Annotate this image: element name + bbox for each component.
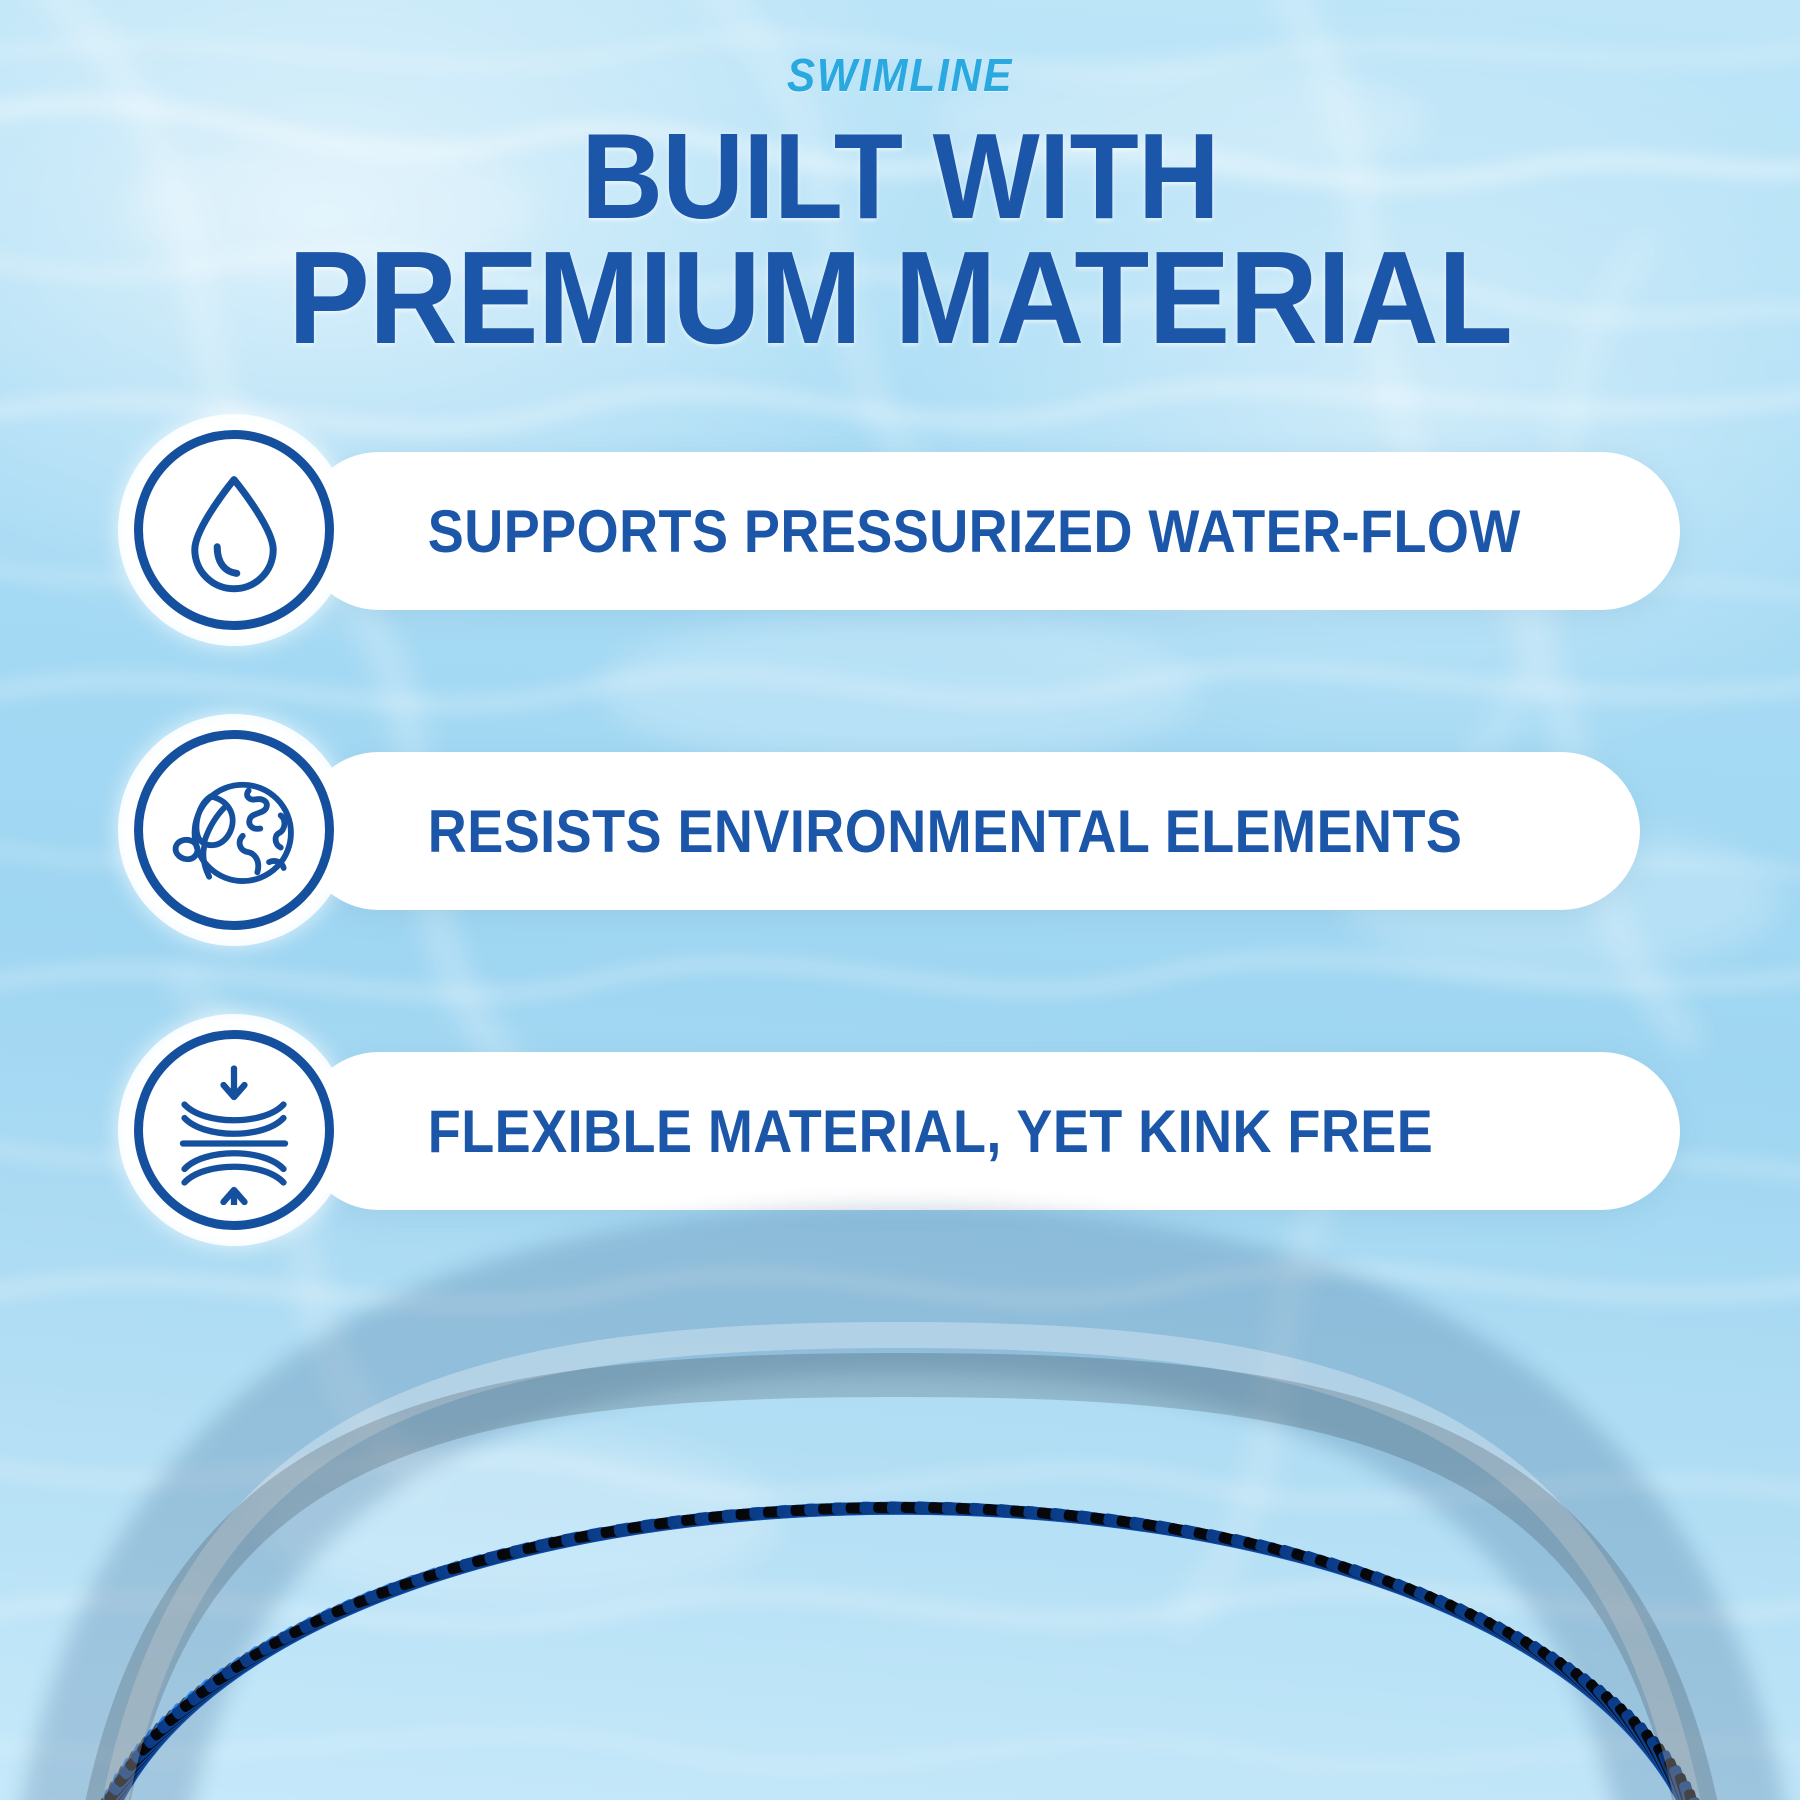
feature-label-2: RESISTS ENVIRONMENTAL ELEMENTS <box>300 797 1462 866</box>
list-item: SUPPORTS PRESSURIZED WATER-FLOW <box>0 400 1800 700</box>
feature-badge-2 <box>118 714 350 946</box>
feature-label-1: SUPPORTS PRESSURIZED WATER-FLOW <box>300 497 1521 566</box>
page-title: BUILT WITH PREMIUM MATERIAL <box>63 118 1737 362</box>
feature-pill-1: SUPPORTS PRESSURIZED WATER-FLOW <box>300 452 1680 610</box>
product-image-pool-hose <box>0 1120 1800 1800</box>
globe-leaf-icon <box>161 757 307 903</box>
headline-line-2: PREMIUM MATERIAL <box>63 235 1737 362</box>
water-drop-icon <box>164 460 304 600</box>
feature-badge-1 <box>118 414 350 646</box>
list-item: RESISTS ENVIRONMENTAL ELEMENTS <box>0 700 1800 1000</box>
poster-canvas: SWIMLINE BUILT WITH PREMIUM MATERIAL SUP… <box>0 0 1800 1800</box>
brand-logo: SWIMLINE <box>72 48 1728 102</box>
feature-pill-2: RESISTS ENVIRONMENTAL ELEMENTS <box>300 752 1640 910</box>
